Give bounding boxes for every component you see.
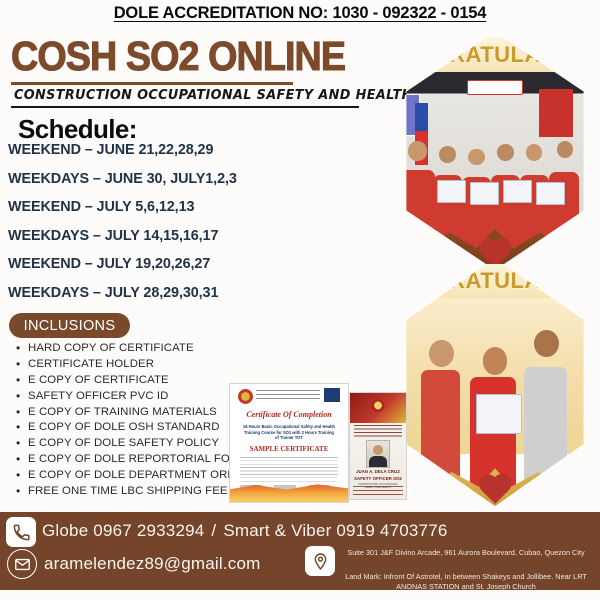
person — [400, 170, 435, 270]
certificate-title: Certificate Of Completion — [230, 410, 348, 419]
schedule-list: WEEKEND – JUNE 21,22,28,29 WEEKDAYS – JU… — [8, 142, 380, 314]
landmark-text: Land Mark: Infront Of Astrotel, In betwe… — [340, 572, 592, 592]
list-item: E COPY OF CERTIFICATE — [14, 374, 244, 386]
list-item: E COPY OF DOLE REPORTORIAL FORMS — [14, 453, 244, 465]
sample-id-card-image: JUAN A. DELA CRUZ SAFETY OFFICER SO2 CON… — [349, 392, 407, 500]
graduation-photo-bottom: CONGRATULATIONS — [392, 258, 598, 506]
schedule-row: WEEKDAYS – JUNE 30, JULY1,2,3 — [8, 171, 380, 187]
congratulations-text: CONGRATULATIONS — [392, 268, 598, 294]
person-head — [468, 149, 484, 166]
seal-icon — [372, 399, 385, 412]
certificate-held — [536, 182, 565, 205]
id-org-text — [354, 425, 402, 437]
flyer-page: DOLE ACCREDITATION NO: 1030 - 092322 - 0… — [0, 0, 600, 600]
id-portrait — [366, 440, 390, 468]
portrait-face — [373, 445, 383, 455]
separator: / — [211, 521, 216, 540]
office-address: Suite 301 J&F Divino Arcade, 961 Aurora … — [340, 548, 592, 558]
phone-numbers[interactable]: Globe 0967 2933294/Smart & Viber 0919 47… — [42, 521, 448, 541]
graduation-photo-top: CONGRATULATIONS — [392, 32, 598, 270]
seal-icon — [238, 389, 253, 404]
subtitle-underline — [11, 106, 359, 108]
certificate-held — [476, 394, 521, 433]
phone-icon — [6, 517, 36, 547]
person-head — [439, 146, 455, 163]
email-icon — [7, 549, 37, 579]
red-door — [539, 89, 573, 137]
smart-viber-number: Smart & Viber 0919 4703776 — [223, 521, 447, 540]
list-item: E COPY OF DOLE SAFETY POLICY — [14, 437, 244, 449]
list-item: E COPY OF DOLE OSH STANDARD — [14, 421, 244, 433]
list-item: CERTIFICATE HOLDER — [14, 358, 244, 370]
certificate-name: SAMPLE CERTIFICATE — [230, 445, 348, 453]
person-head — [526, 144, 542, 161]
schedule-row: WEEKDAYS – JULY 28,29,30,31 — [8, 285, 380, 301]
congratulations-text: CONGRATULATIONS — [392, 42, 598, 68]
id-header-band — [350, 393, 406, 423]
person-head — [534, 330, 559, 357]
title-underline — [11, 82, 293, 85]
globe-number: Globe 0967 2933294 — [42, 521, 204, 540]
certificate-org-text — [256, 390, 320, 401]
contact-footer: Globe 0967 2933294/Smart & Viber 0919 47… — [0, 512, 600, 590]
inclusions-list: HARD COPY OF CERTIFICATE CERTIFICATE HOL… — [14, 342, 244, 501]
schedule-heading: Schedule: — [18, 114, 137, 145]
sample-certificate-image: Certificate Of Completion 16 Hours Basic… — [229, 383, 349, 503]
schedule-row: WEEKEND – JULY 19,20,26,27 — [8, 256, 380, 272]
accreditation-number: DOLE ACCREDITATION NO: 1030 - 092322 - 0… — [0, 4, 600, 23]
photo-content: CONGRATULATIONS — [392, 258, 598, 506]
schedule-row: WEEKDAYS – JULY 14,15,16,17 — [8, 228, 380, 244]
person-head — [497, 144, 513, 161]
id-footer-text — [353, 486, 403, 496]
schedule-row: WEEKEND – JUNE 21,22,28,29 — [8, 142, 380, 158]
certificate-held — [437, 180, 466, 203]
heart-icon — [482, 477, 509, 504]
certificate-course: 16 Hours Basic Occupational Safety and H… — [242, 424, 336, 441]
email-address[interactable]: aramelendez89@gmail.com — [44, 554, 261, 574]
list-item: E COPY OF TRAINING MATERIALS — [14, 406, 244, 418]
id-holder-name: JUAN A. DELA CRUZ — [350, 469, 406, 474]
portrait-body — [369, 456, 387, 467]
list-item: HARD COPY OF CERTIFICATE — [14, 342, 244, 354]
id-holder-role: SAFETY OFFICER SO2 — [350, 476, 406, 481]
photo-content: CONGRATULATIONS — [392, 32, 598, 270]
person — [524, 367, 567, 506]
list-item: FREE ONE TIME LBC SHIPPING FEE — [14, 485, 244, 497]
certificate-held — [503, 180, 532, 203]
schedule-row: WEEKEND – JULY 5,6,12,13 — [8, 199, 380, 215]
wall-signage — [467, 80, 523, 95]
person — [421, 370, 460, 506]
certificate-wave-graphic — [230, 480, 348, 502]
location-pin-icon — [305, 546, 335, 576]
certificate-body-text — [240, 457, 338, 483]
congratulations-banner: CONGRATULATIONS — [392, 264, 598, 298]
person-head — [429, 340, 454, 367]
logo-icon — [324, 388, 340, 402]
page-title: COSH SO2 ONLINE — [11, 36, 345, 77]
list-item: SAFETY OFFICER PVC ID — [14, 390, 244, 402]
inclusions-badge: INCLUSIONS — [9, 313, 130, 338]
congratulations-banner: CONGRATULATIONS — [392, 38, 598, 72]
page-subtitle: CONSTRUCTION OCCUPATIONAL SAFETY AND HEA… — [14, 88, 413, 103]
person-head — [408, 141, 427, 160]
certificate-held — [470, 182, 499, 205]
person-head — [483, 347, 508, 374]
list-item: E COPY OF DOLE DEPARTMENT ORDERS — [14, 469, 244, 481]
